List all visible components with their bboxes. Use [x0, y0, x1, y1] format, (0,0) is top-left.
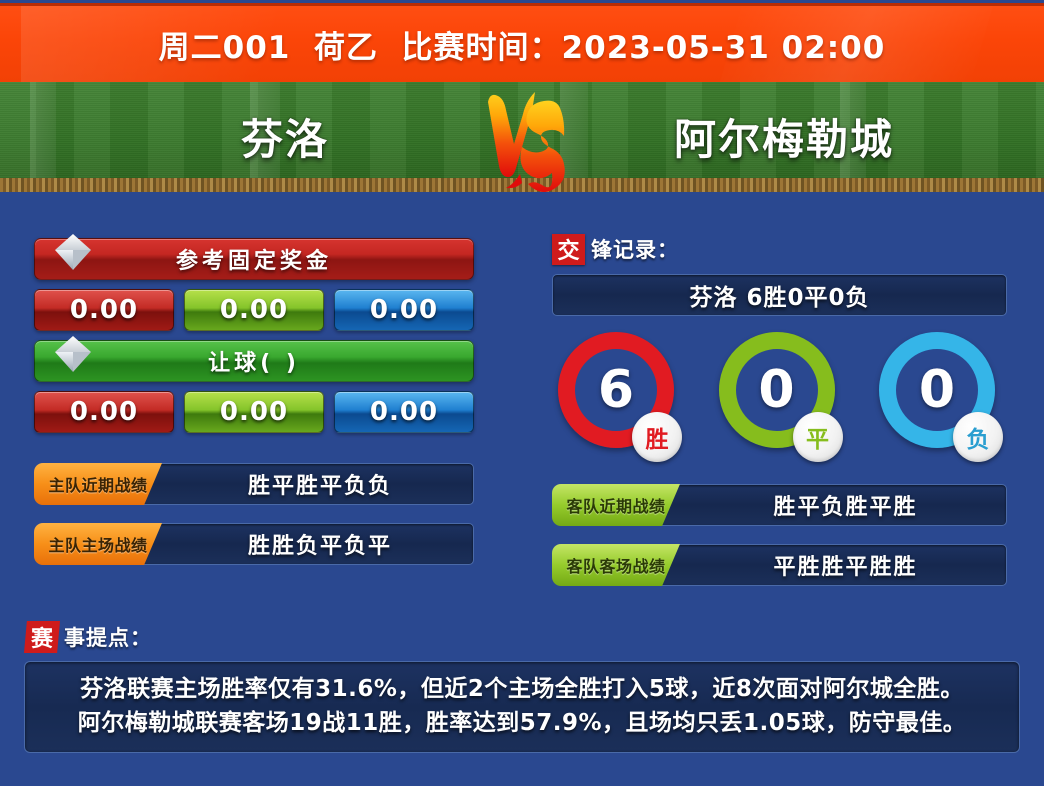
away-recent-record-tag: 客队近期战绩: [552, 484, 680, 526]
away-team-name: 阿尔梅勒城: [594, 106, 974, 167]
odds-panel: 参考固定奖金 0.00 0.00 0.00 让球( ) 0.00 0.00 0.…: [34, 238, 474, 565]
home-team-name: 芬洛: [120, 106, 450, 167]
analysis-box: 芬洛联赛主场胜率仅有31.6%，但近2个主场全胜打入5球，近8次面对阿尔城全胜。…: [24, 661, 1020, 753]
analysis-section: 赛 事提点： 芬洛联赛主场胜率仅有31.6%，但近2个主场全胜打入5球，近8次面…: [24, 620, 1020, 753]
mow-stripe: [30, 82, 56, 192]
fixed-prize-label: 参考固定奖金: [176, 243, 332, 275]
away-away-record-value: 平胜胜平胜胜: [739, 549, 917, 581]
away-recent-record-value: 胜平负胜平胜: [739, 489, 917, 521]
head-to-head-header: 交 锋记录：: [552, 232, 1007, 266]
header-title: 周二001 荷乙 比赛时间：2023-05-31 02:00: [159, 22, 886, 67]
analysis-header: 赛 事提点：: [24, 620, 1020, 654]
analysis-line: 芬洛联赛主场胜率仅有31.6%，但近2个主场全胜打入5球，近8次面对阿尔城全胜。: [39, 672, 1005, 706]
diamond-gem-icon: [51, 230, 95, 274]
analysis-badge-icon: 赛: [24, 621, 60, 653]
head-to-head-summary-field: 芬洛 6胜0平0负: [552, 274, 1007, 316]
diamond-gem-icon: [51, 332, 95, 376]
handicap-odd-draw[interactable]: 0.00: [184, 391, 324, 433]
fixed-odds-row: 0.00 0.00 0.00: [34, 289, 474, 331]
away-away-record-field: 平胜胜平胜胜: [650, 544, 1007, 586]
home-recent-record-field: 胜平胜平负负: [132, 463, 474, 505]
away-away-record-tag: 客队客场战绩: [552, 544, 680, 586]
vs-flame-icon: [468, 86, 576, 192]
analysis-title: 事提点：: [64, 622, 152, 652]
away-recent-record-row: 客队近期战绩 胜平负胜平胜: [552, 484, 1007, 526]
match-preview-poster: 周二001 荷乙 比赛时间：2023-05-31 02:00 芬洛 阿尔梅勒城: [0, 0, 1044, 786]
fixed-odd-win[interactable]: 0.00: [34, 289, 174, 331]
fixed-odd-draw[interactable]: 0.00: [184, 289, 324, 331]
ring-draw: 0 平: [719, 332, 841, 462]
handicap-bar: 让球( ): [34, 340, 474, 382]
ring-lose: 0 负: [879, 332, 1001, 462]
handicap-label: 让球( ): [208, 345, 300, 377]
home-recent-record-value: 胜平胜平负负: [214, 468, 392, 500]
away-away-record-row: 客队客场战绩 平胜胜平胜胜: [552, 544, 1007, 586]
h2h-badge-icon: 交: [552, 234, 585, 265]
home-home-record-value: 胜胜负平负平: [214, 528, 392, 560]
ring-lose-label: 负: [953, 412, 1003, 462]
home-home-record-field: 胜胜负平负平: [132, 523, 474, 565]
fixed-prize-bar: 参考固定奖金: [34, 238, 474, 280]
handicap-odd-win[interactable]: 0.00: [34, 391, 174, 433]
ring-win-label: 胜: [632, 412, 682, 462]
fixed-odd-lose[interactable]: 0.00: [334, 289, 474, 331]
pitch-band: 芬洛 阿尔梅勒城: [0, 82, 1044, 192]
handicap-odds-row: 0.00 0.00 0.00: [34, 391, 474, 433]
home-recent-record-row: 主队近期战绩 胜平胜平负负: [34, 463, 474, 505]
handicap-odd-lose[interactable]: 0.00: [334, 391, 474, 433]
head-to-head-summary: 芬洛 6胜0平0负: [689, 278, 869, 312]
ring-win: 6 胜: [558, 332, 680, 462]
home-home-record-row: 主队主场战绩 胜胜负平负平: [34, 523, 474, 565]
ring-draw-label: 平: [793, 412, 843, 462]
home-home-record-tag: 主队主场战绩: [34, 523, 162, 565]
header-bar: 周二001 荷乙 比赛时间：2023-05-31 02:00: [0, 3, 1044, 82]
away-recent-record-field: 胜平负胜平胜: [650, 484, 1007, 526]
head-to-head-rings: 6 胜 0 平 0 负: [558, 332, 1001, 462]
head-to-head-title: 锋记录：: [591, 234, 679, 264]
head-to-head-panel: 交 锋记录： 芬洛 6胜0平0负 6 胜 0 平 0 负 客队: [552, 232, 1007, 586]
analysis-line: 阿尔梅勒城联赛客场19战11胜，胜率达到57.9%，且场均只丢1.05球，防守最…: [39, 706, 1005, 740]
home-recent-record-tag: 主队近期战绩: [34, 463, 162, 505]
